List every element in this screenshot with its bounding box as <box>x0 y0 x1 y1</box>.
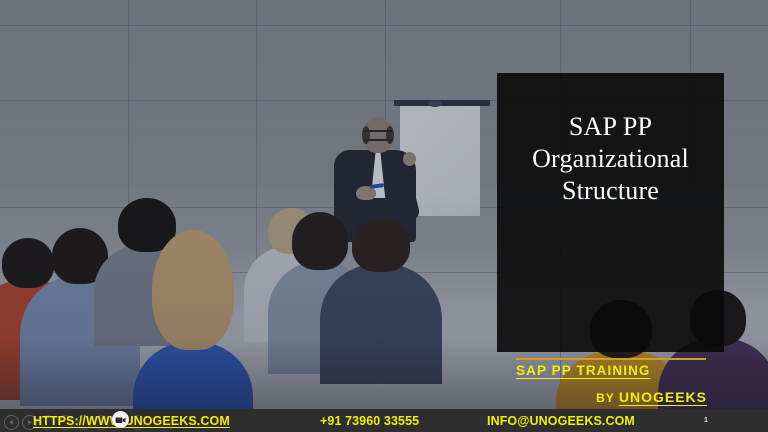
flipchart-clip <box>428 100 442 107</box>
video-camera-icon <box>112 411 129 428</box>
control-placeholder-2[interactable] <box>58 415 73 430</box>
attendee-head <box>352 218 410 272</box>
presenter-glasses <box>364 130 392 141</box>
wall-grid-line <box>0 25 768 26</box>
course-subtitle: SAP PP TRAINING <box>516 363 651 378</box>
previous-slide-button[interactable] <box>4 415 19 430</box>
attendee-head <box>152 230 234 350</box>
attendee-head <box>2 238 54 288</box>
accent-divider <box>516 358 706 360</box>
title-line-3: Structure <box>505 175 716 207</box>
control-placeholder-3[interactable] <box>76 415 91 430</box>
title-line-1: SAP PP <box>505 111 716 143</box>
control-placeholder-6[interactable] <box>130 415 145 430</box>
flipchart-rail <box>394 100 490 106</box>
phone-number: +91 73960 33555 <box>320 414 419 428</box>
title-panel: SAP PP Organizational Structure SAP PP T… <box>497 73 724 352</box>
title-line-2: Organizational <box>505 143 716 175</box>
byline-brand: UNOGEEKS <box>619 389 707 405</box>
wall-grid-line <box>256 0 257 300</box>
byline-prefix: BY <box>596 391 619 405</box>
attendee-head <box>292 212 348 270</box>
play-slideshow-button[interactable] <box>22 415 37 430</box>
presenter-hand <box>403 152 416 166</box>
slide-viewer: SAP PP Organizational Structure SAP PP T… <box>0 0 768 432</box>
page-number: 1 <box>704 417 708 424</box>
byline: BY UNOGEEKS <box>596 389 707 405</box>
control-placeholder-4[interactable] <box>94 415 109 430</box>
attendee-shoulders <box>320 264 442 384</box>
control-placeholder-1[interactable] <box>40 415 55 430</box>
slide-title: SAP PP Organizational Structure <box>497 111 724 207</box>
email-address: INFO@UNOGEEKS.COM <box>487 414 635 428</box>
